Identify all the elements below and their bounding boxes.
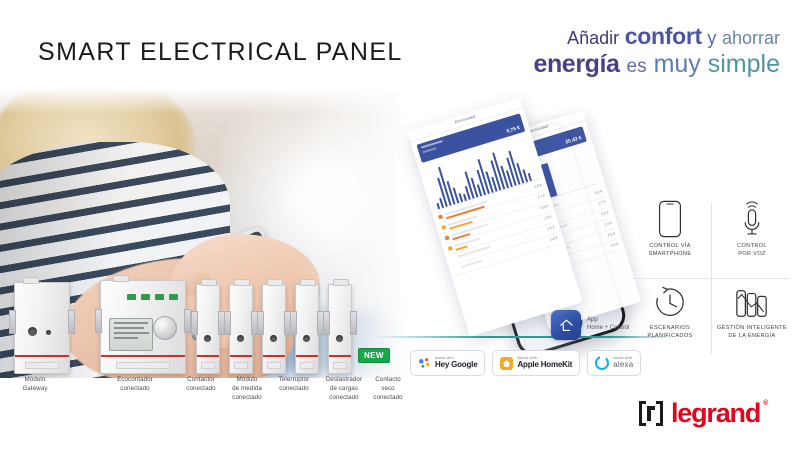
module-terminal-left xyxy=(224,311,231,335)
module-din-slot xyxy=(333,362,347,369)
app-home-control-tile[interactable]: App Home + Control xyxy=(551,310,629,340)
product-ecocontador-conectado[interactable] xyxy=(100,280,186,374)
module-red-stripe xyxy=(197,355,219,357)
feature-label-line-1: CONTROL VÍA xyxy=(630,243,710,251)
product-contactor-conectado[interactable] xyxy=(196,284,220,374)
product-captions: Módulo Gateway Ecocontador conectado Con… xyxy=(0,376,410,416)
badge-big-text: Apple HomeKit xyxy=(517,360,572,369)
app-tile-line-1: App xyxy=(587,317,629,325)
legrand-logo: legrand ® xyxy=(638,400,760,427)
module-terminal-left xyxy=(95,309,102,333)
module-terminal-left xyxy=(323,311,330,335)
module-terminal-left xyxy=(290,311,297,335)
headline-word-anadir: Añadir xyxy=(567,29,619,48)
module-top-clip xyxy=(267,279,283,286)
caption-contacto-seco: Contacto seco conectado xyxy=(366,376,410,402)
app-amount-today: 0,75 € xyxy=(506,125,521,135)
module-top-clip xyxy=(113,275,129,282)
new-badge: NEW xyxy=(358,348,390,363)
caption-telerruptor: Telerruptor conectado xyxy=(270,376,318,394)
feature-gestion-energia: GESTIÓN INTELIGENTE DE LA ENERGÍA xyxy=(712,280,792,341)
module-top-clip xyxy=(201,279,217,286)
product-modulo-gateway[interactable] xyxy=(14,282,70,374)
module-red-stripe xyxy=(101,355,185,357)
module-din-slot xyxy=(25,362,60,369)
module-button[interactable] xyxy=(270,335,277,342)
module-terminal-right xyxy=(350,311,357,335)
headline-line-1: Añadir confort y ahorrar xyxy=(470,24,780,50)
module-status-led-3 xyxy=(155,294,164,300)
product-modulo-de-medida-conectado[interactable] xyxy=(229,284,253,374)
feature-label-line-2: PLANIFICADOS xyxy=(630,333,710,341)
feature-label-line-2: POR VOZ xyxy=(712,251,792,259)
module-lcd-display xyxy=(109,318,153,351)
module-din-slot xyxy=(234,362,248,369)
registered-trademark: ® xyxy=(763,400,767,407)
module-terminal-left xyxy=(257,311,264,335)
poster-canvas: SMART ELECTRICAL PANEL Añadir confort y … xyxy=(0,0,800,471)
feature-label-line-1: GESTIÓN INTELIGENTE xyxy=(712,325,792,333)
module-status-led-2 xyxy=(141,294,150,300)
module-button[interactable] xyxy=(204,335,211,342)
headline-word-muy: muy xyxy=(654,51,701,78)
feature-control-voz: CONTROL POR VOZ xyxy=(712,198,792,259)
module-rotary-knob[interactable] xyxy=(153,316,177,340)
product-contacto-seco-conectado[interactable] xyxy=(328,284,352,374)
product-deslastrador-de-cargas-conectado[interactable] xyxy=(295,284,319,374)
headline-word-ahorrar: ahorrar xyxy=(722,29,780,48)
headline-word-y: y xyxy=(707,29,716,48)
module-status-led-1 xyxy=(127,294,136,300)
module-top-clip xyxy=(333,279,349,286)
headline-word-simple: simple xyxy=(708,51,780,78)
badge-apple-homekit[interactable]: Works with Apple HomeKit xyxy=(492,350,580,376)
headline-word-es: es xyxy=(627,57,647,78)
module-terminal-right xyxy=(184,309,191,333)
module-top-clip xyxy=(234,279,250,286)
module-din-slot xyxy=(116,362,170,369)
module-terminal-left xyxy=(9,310,16,334)
feature-label-line-1: CONTROL xyxy=(712,243,792,251)
module-din-slot xyxy=(300,362,314,369)
module-terminal-right xyxy=(68,310,75,334)
module-led xyxy=(46,330,51,335)
feature-label-line-1: ESCENARIOS xyxy=(630,325,710,333)
badge-big-text: Hey Google xyxy=(435,360,477,369)
module-red-stripe xyxy=(296,355,318,357)
caption-deslastrador: Deslastrador de cargas conectado xyxy=(318,376,370,402)
clock-icon xyxy=(630,280,710,320)
headline-line-2: energía es muy simple xyxy=(470,51,780,78)
module-red-stripe xyxy=(230,355,252,357)
caption-ecocontador: Ecocontador conectado xyxy=(92,376,178,394)
smartphone-icon xyxy=(630,198,710,238)
badge-big-text: alexa xyxy=(613,360,633,369)
module-button[interactable] xyxy=(303,335,310,342)
bar-chart-icon xyxy=(712,280,792,320)
module-top-clip xyxy=(300,279,316,286)
caption-modulo-medida: Módulo de medida conectado xyxy=(224,376,270,402)
module-din-slot xyxy=(201,362,215,369)
home-icon xyxy=(551,310,581,340)
feature-label-line-2: DE LA ENERGÍA xyxy=(712,333,792,341)
module-din-slot xyxy=(267,362,281,369)
caption-modulo-gateway: Módulo Gateway xyxy=(4,376,66,394)
module-red-stripe xyxy=(263,355,285,357)
app-tile-line-2: Home + Control xyxy=(587,325,629,333)
partner-badges: works with Hey Google Works with Apple H… xyxy=(410,350,641,376)
feature-control-smartphone: CONTROL VÍA SMARTPHONE xyxy=(630,198,710,259)
module-terminal-left xyxy=(191,311,198,335)
google-assistant-icon xyxy=(418,357,431,370)
module-red-stripe xyxy=(329,355,351,357)
product-telerruptor-conectado[interactable] xyxy=(262,284,286,374)
headline: Añadir confort y ahorrar energía es muy … xyxy=(470,24,780,78)
module-button[interactable] xyxy=(336,335,343,342)
feature-label-line-2: SMARTPHONE xyxy=(630,251,710,259)
legrand-mark-icon xyxy=(638,400,664,427)
module-red-stripe xyxy=(15,355,69,357)
module-top-clip xyxy=(23,277,39,284)
product-module-row xyxy=(8,276,408,374)
legrand-wordmark: legrand xyxy=(671,398,760,428)
headline-word-confort: confort xyxy=(625,24,702,49)
module-button[interactable] xyxy=(237,335,244,342)
module-button[interactable] xyxy=(28,327,37,336)
caption-contactor: Contactor conectado xyxy=(178,376,224,394)
app-screen-title: Electricidad xyxy=(455,114,476,124)
badge-hey-google[interactable]: works with Hey Google xyxy=(410,350,485,376)
alexa-ring-icon xyxy=(595,356,609,370)
app-amount-total: 20,43 € xyxy=(565,135,583,146)
grid-divider-horizontal xyxy=(632,278,790,279)
homekit-house-icon xyxy=(500,357,513,370)
feature-escenarios-planificados: ESCENARIOS PLANIFICADOS xyxy=(630,280,710,341)
microphone-icon xyxy=(712,198,792,238)
headline-word-energia: energía xyxy=(533,51,619,78)
feature-grid: CONTROL VÍA SMARTPHONE CONTROL POR VOZ xyxy=(628,198,794,358)
page-title: SMART ELECTRICAL PANEL xyxy=(38,38,403,67)
module-status-led-4 xyxy=(169,294,178,300)
